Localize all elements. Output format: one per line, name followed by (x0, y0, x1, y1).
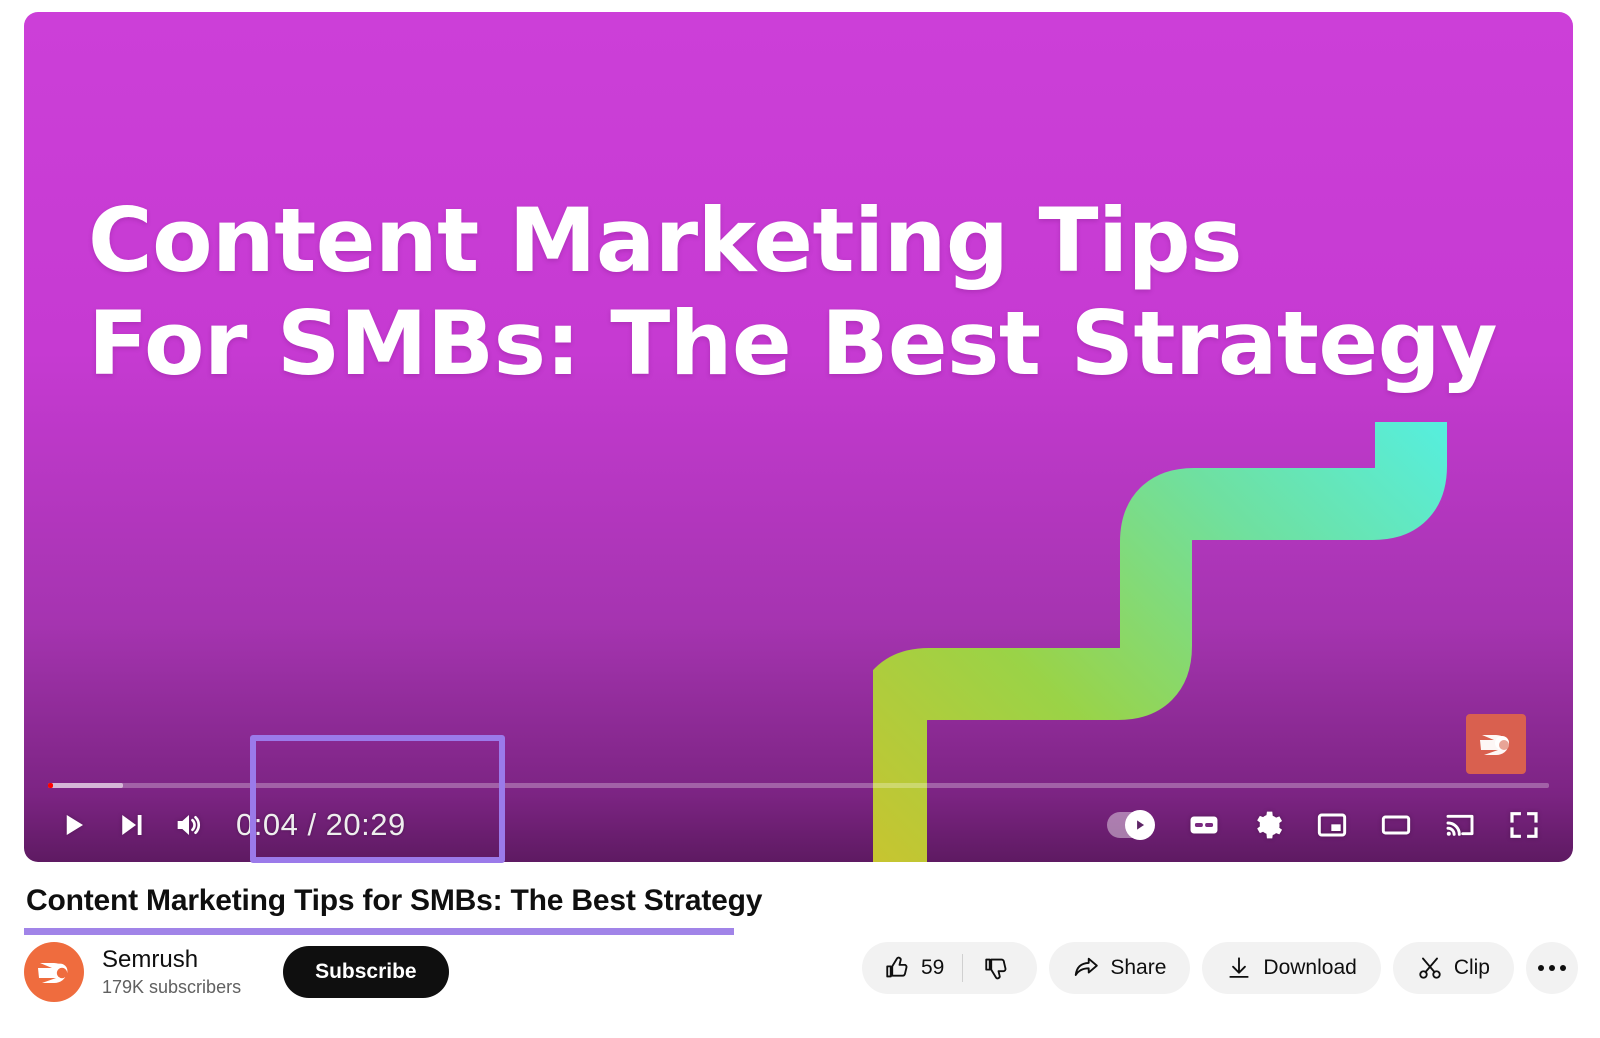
channel-info[interactable]: Semrush 179K subscribers (102, 946, 241, 998)
settings-button[interactable] (1241, 798, 1295, 852)
volume-icon (173, 809, 205, 841)
channel-name: Semrush (102, 946, 241, 975)
autoplay-knob (1125, 810, 1155, 840)
subscribe-button[interactable]: Subscribe (283, 946, 449, 998)
like-count: 59 (921, 956, 944, 980)
player-controls-left: 0:04 / 20:29 (46, 798, 422, 852)
share-button[interactable]: Share (1049, 942, 1190, 994)
share-label: Share (1110, 956, 1166, 980)
fullscreen-icon (1508, 809, 1540, 841)
thumbnail-title-line-1: Content Marketing Tips (88, 190, 1428, 293)
download-button[interactable]: Download (1202, 942, 1380, 994)
more-actions-button[interactable] (1526, 942, 1578, 994)
thumbs-up-icon (884, 955, 910, 981)
miniplayer-button[interactable] (1305, 798, 1359, 852)
player-controls[interactable]: 0:04 / 20:29 (24, 788, 1573, 862)
miniplayer-icon (1316, 809, 1348, 841)
avatar[interactable] (24, 942, 84, 1002)
theater-mode-icon (1380, 809, 1412, 841)
autoplay-track (1107, 812, 1153, 838)
gear-icon (1252, 809, 1284, 841)
scissors-icon (1417, 955, 1443, 981)
play-button[interactable] (46, 798, 100, 852)
download-label: Download (1263, 956, 1356, 980)
clip-label: Clip (1454, 956, 1490, 980)
thumbnail-title-line-2: For SMBs: The Best Strategy (88, 293, 1428, 396)
theater-mode-button[interactable] (1369, 798, 1423, 852)
channel-subscriber-count: 179K subscribers (102, 977, 241, 998)
download-arrow-icon (1226, 955, 1252, 981)
player-controls-right (1107, 798, 1551, 852)
cast-icon (1444, 809, 1476, 841)
autoplay-toggle[interactable] (1107, 810, 1167, 840)
semrush-comet-icon (1478, 729, 1514, 759)
channel-row: Semrush 179K subscribers Subscribe (24, 942, 449, 1002)
clip-button[interactable]: Clip (1393, 942, 1514, 994)
more-horizontal-icon (1538, 965, 1566, 971)
play-icon (58, 810, 88, 840)
semrush-watermark[interactable] (1466, 714, 1526, 774)
semrush-comet-icon (35, 957, 73, 987)
page-title: Content Marketing Tips for SMBs: The Bes… (26, 884, 762, 918)
next-video-button[interactable] (104, 798, 158, 852)
captions-button[interactable] (1177, 798, 1231, 852)
share-arrow-icon (1073, 955, 1099, 981)
video-meta-section: Content Marketing Tips for SMBs: The Bes… (0, 862, 1600, 1038)
thumbs-down-icon (983, 955, 1009, 981)
dislike-button[interactable] (963, 955, 1031, 981)
title-highlight-underline (24, 928, 734, 935)
play-small-icon (1133, 818, 1147, 832)
thumbnail-title: Content Marketing Tips For SMBs: The Bes… (88, 190, 1428, 396)
like-dislike-group: 59 (862, 942, 1037, 994)
action-buttons: 59 Share Download (862, 942, 1578, 994)
time-display: 0:04 / 20:29 (220, 807, 422, 843)
cast-button[interactable] (1433, 798, 1487, 852)
next-track-icon (116, 810, 146, 840)
volume-button[interactable] (162, 798, 216, 852)
video-player[interactable]: Content Marketing Tips For SMBs: The Bes… (24, 12, 1573, 862)
cc-icon (1187, 808, 1221, 842)
like-button[interactable]: 59 (884, 955, 962, 981)
fullscreen-button[interactable] (1497, 798, 1551, 852)
